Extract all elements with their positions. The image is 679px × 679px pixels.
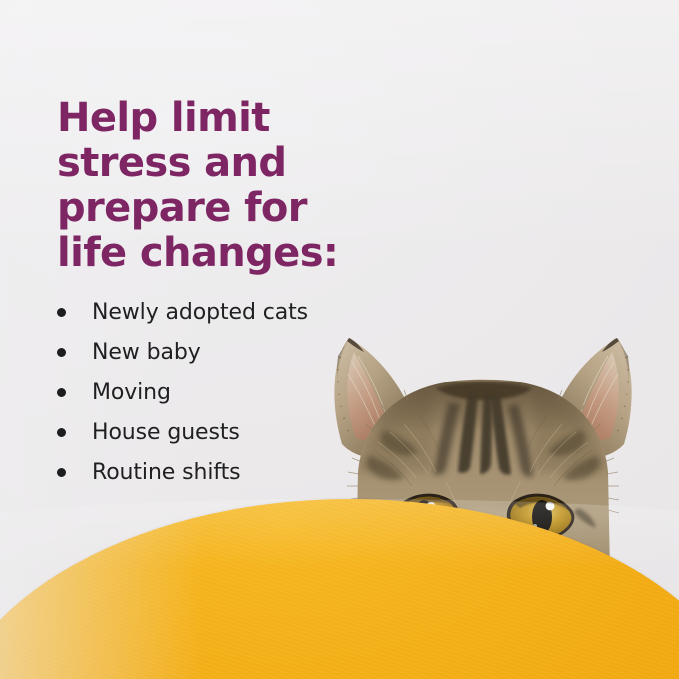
list-item-label: New baby (92, 340, 201, 365)
list-item: Newly adopted cats (57, 292, 387, 332)
bullet-dot-icon (57, 348, 66, 357)
list-item: New baby (57, 332, 387, 372)
list-item-label: House guests (92, 420, 240, 445)
list-item-label: Newly adopted cats (92, 300, 308, 325)
bullet-dot-icon (57, 428, 66, 437)
poster-canvas: Help limit stress and prepare for life c… (0, 0, 679, 679)
list-item: House guests (57, 412, 387, 452)
page-title: Help limit stress and prepare for life c… (57, 96, 387, 276)
life-changes-list: Newly adopted cats New baby Moving House… (57, 292, 387, 492)
list-item-label: Routine shifts (92, 460, 240, 485)
list-item: Moving (57, 372, 387, 412)
bullet-dot-icon (57, 388, 66, 397)
list-item: Routine shifts (57, 452, 387, 492)
list-item-label: Moving (92, 380, 171, 405)
bullet-dot-icon (57, 468, 66, 477)
bullet-dot-icon (57, 308, 66, 317)
